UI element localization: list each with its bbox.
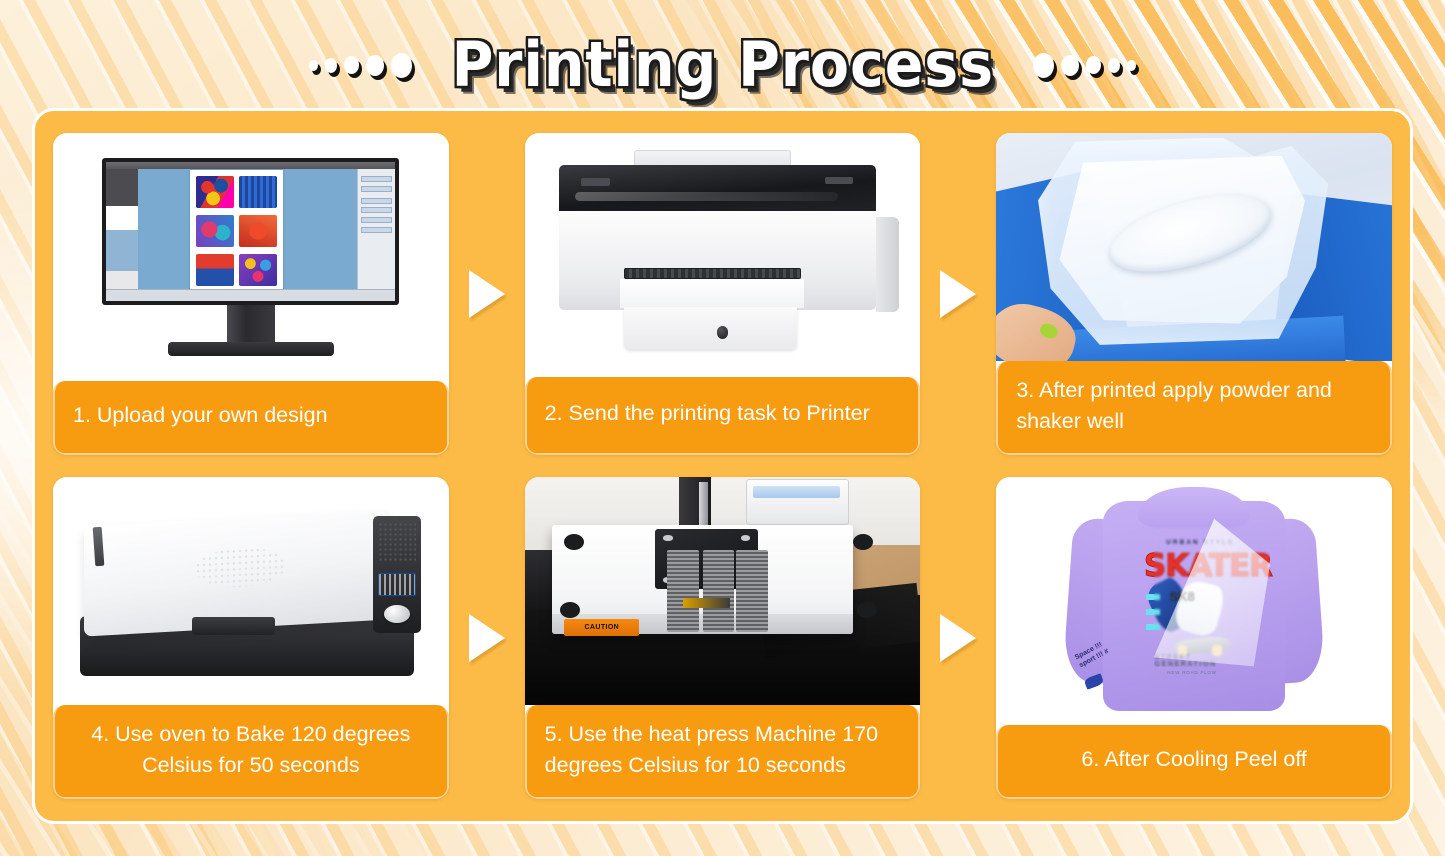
dot — [344, 56, 359, 74]
dot — [1033, 53, 1054, 78]
caution-hot-surface-label: CAUTION — [564, 619, 639, 636]
finished-hoodie-image: URBAN STYLE SKATER SK8 STREET GENERATION… — [996, 477, 1392, 725]
arrow-right-icon — [940, 614, 976, 662]
press-badge — [683, 598, 730, 608]
dot — [309, 60, 318, 71]
step-card-2[interactable]: 2. Send the printing task to Printer — [525, 133, 921, 455]
arrow-step-4-to-5 — [449, 477, 525, 799]
hoodie-hood — [1138, 487, 1249, 528]
arrow-right-icon — [940, 270, 976, 318]
step-card-5[interactable]: CAUTION 5. Use the heat press Machine 17… — [525, 477, 921, 799]
printer — [552, 150, 892, 360]
caution-label-text: CAUTION — [584, 624, 619, 631]
oven — [77, 502, 425, 680]
heat-press-machine-image: CAUTION — [525, 477, 921, 705]
artwork-thumb — [239, 176, 277, 208]
arrow-right-icon — [469, 614, 505, 662]
oven-grill — [378, 522, 416, 561]
monitor-stand-neck — [227, 305, 274, 343]
platen-knob — [564, 534, 584, 550]
step-card-6[interactable]: URBAN STYLE SKATER SK8 STREET GENERATION… — [996, 477, 1392, 799]
hoodie-street-sub-text: NEW ROAD FLOW — [1167, 670, 1216, 675]
dot — [1086, 56, 1101, 74]
monitor-screen — [102, 158, 399, 305]
oven-lcd-display — [378, 573, 416, 596]
press-spring — [667, 550, 699, 632]
printer-front-drawer — [624, 307, 798, 349]
curing-oven-image — [53, 477, 449, 705]
press-spring — [703, 550, 735, 632]
artwork-thumb — [239, 215, 277, 247]
printer-paper-sheet — [620, 279, 804, 308]
press-controller — [746, 479, 849, 525]
cyan-bars — [1146, 594, 1160, 630]
printer-output-slot — [624, 268, 801, 280]
dtf-printer-image — [525, 133, 921, 377]
page-title: Printing Process — [451, 34, 993, 96]
monitor-stand-base — [168, 342, 334, 356]
software-panel-mid — [106, 230, 138, 272]
step-card-1[interactable]: 1. Upload your own design — [53, 133, 449, 455]
software-menubar — [106, 162, 395, 169]
title-dots-right — [1033, 53, 1136, 78]
software-statusbar — [106, 289, 395, 301]
step-card-3[interactable]: 3. After printed apply powder and shaker… — [996, 133, 1392, 455]
dot — [1061, 55, 1079, 76]
step-caption-5: 5. Use the heat press Machine 170 degree… — [525, 705, 921, 799]
arrow-right-icon — [469, 270, 505, 318]
design-canvas — [190, 170, 282, 292]
hoodie: URBAN STYLE SKATER SK8 STREET GENERATION… — [1068, 487, 1321, 715]
dot — [366, 55, 384, 76]
software-properties-panel — [357, 169, 396, 290]
platen-knob — [853, 534, 873, 550]
dot — [1127, 60, 1136, 71]
oven-power-button — [384, 605, 410, 623]
step-caption-6: 6. After Cooling Peel off — [996, 725, 1392, 799]
platen-knob — [857, 602, 877, 618]
monitor — [102, 158, 399, 356]
dot — [1108, 58, 1120, 73]
step-caption-3: 3. After printed apply powder and shaker… — [996, 361, 1392, 455]
monitor-design-software-image — [53, 133, 449, 381]
artwork-thumb — [239, 254, 277, 286]
artwork-thumb — [196, 215, 234, 247]
arrow-step-1-to-2 — [449, 133, 525, 455]
press-spring — [736, 550, 768, 632]
step-caption-2: 2. Send the printing task to Printer — [525, 377, 921, 455]
header: Printing Process — [0, 22, 1445, 108]
step-card-4[interactable]: 4. Use oven to Bake 120 degrees Celsius … — [53, 477, 449, 799]
software-panel-white — [106, 206, 138, 230]
arrow-step-5-to-6 — [920, 477, 996, 799]
powder-application-image — [996, 133, 1392, 361]
arrow-step-2-to-3 — [920, 133, 996, 455]
printer-knob — [717, 326, 729, 339]
printer-side-panel — [876, 217, 900, 311]
software-panel-bottom — [106, 271, 138, 289]
process-panel: 1. Upload your own design — [32, 108, 1413, 824]
title-dots-left — [309, 53, 412, 78]
artwork-thumb — [196, 176, 234, 208]
dot — [391, 53, 412, 78]
software-toolbar — [106, 169, 138, 206]
steps-grid: 1. Upload your own design — [35, 111, 1410, 821]
step-caption-4: 4. Use oven to Bake 120 degrees Celsius … — [53, 705, 449, 799]
printer-top-lid — [559, 165, 875, 215]
step-caption-1: 1. Upload your own design — [53, 381, 449, 455]
artwork-thumb — [196, 254, 234, 286]
oven-handle — [192, 617, 276, 635]
dot — [325, 58, 337, 73]
